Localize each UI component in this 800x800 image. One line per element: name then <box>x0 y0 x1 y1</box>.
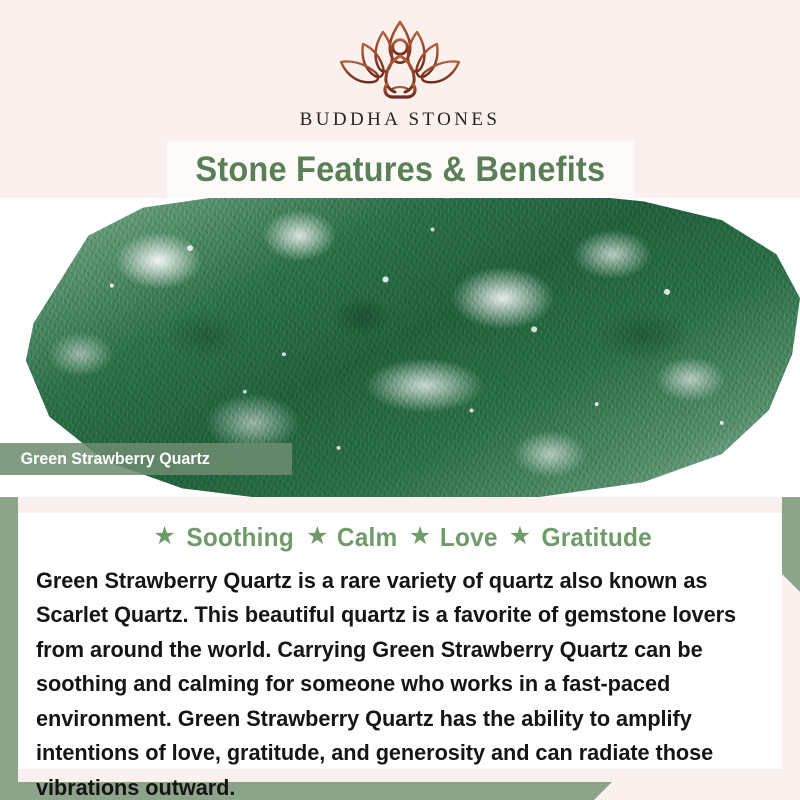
divider-strip <box>18 497 782 513</box>
feature-label: Calm <box>337 522 398 553</box>
green-strawberry-quartz-photo: Green Strawberry Quartz <box>0 198 800 497</box>
photo-caption-label: Green Strawberry Quartz <box>0 449 210 469</box>
feature-label: Soothing <box>186 522 293 553</box>
page-title: Stone Features & Benefits <box>196 150 606 190</box>
feature-list: ★ Soothing ★ Calm ★ Love ★ Gratitude <box>18 513 782 553</box>
content-area: ★ Soothing ★ Calm ★ Love ★ Gratitude Gre… <box>18 513 782 769</box>
feature-item-calm: ★ Calm <box>297 522 400 553</box>
feature-label: Love <box>440 522 498 553</box>
description-paragraph: Green Strawberry Quartz is a rare variet… <box>36 564 742 800</box>
star-icon: ★ <box>409 524 431 549</box>
feature-item-love: ★ Love <box>400 522 500 553</box>
photo-caption-bar: Green Strawberry Quartz <box>0 443 292 475</box>
lotus-meditation-icon <box>325 14 475 106</box>
title-plate: Stone Features & Benefits <box>167 141 634 198</box>
feature-label: Gratitude <box>542 522 652 553</box>
feature-item-soothing: ★ Soothing <box>144 522 297 553</box>
brand-logo: BUDDHA STONES <box>0 14 800 129</box>
product-info-poster: BUDDHA STONES Stone Features & Benefits … <box>0 0 800 800</box>
brand-name: BUDDHA STONES <box>0 110 800 129</box>
feature-item-gratitude: ★ Gratitude <box>500 522 656 553</box>
star-icon: ★ <box>509 524 531 549</box>
star-icon: ★ <box>306 524 328 549</box>
star-icon: ★ <box>153 524 175 549</box>
